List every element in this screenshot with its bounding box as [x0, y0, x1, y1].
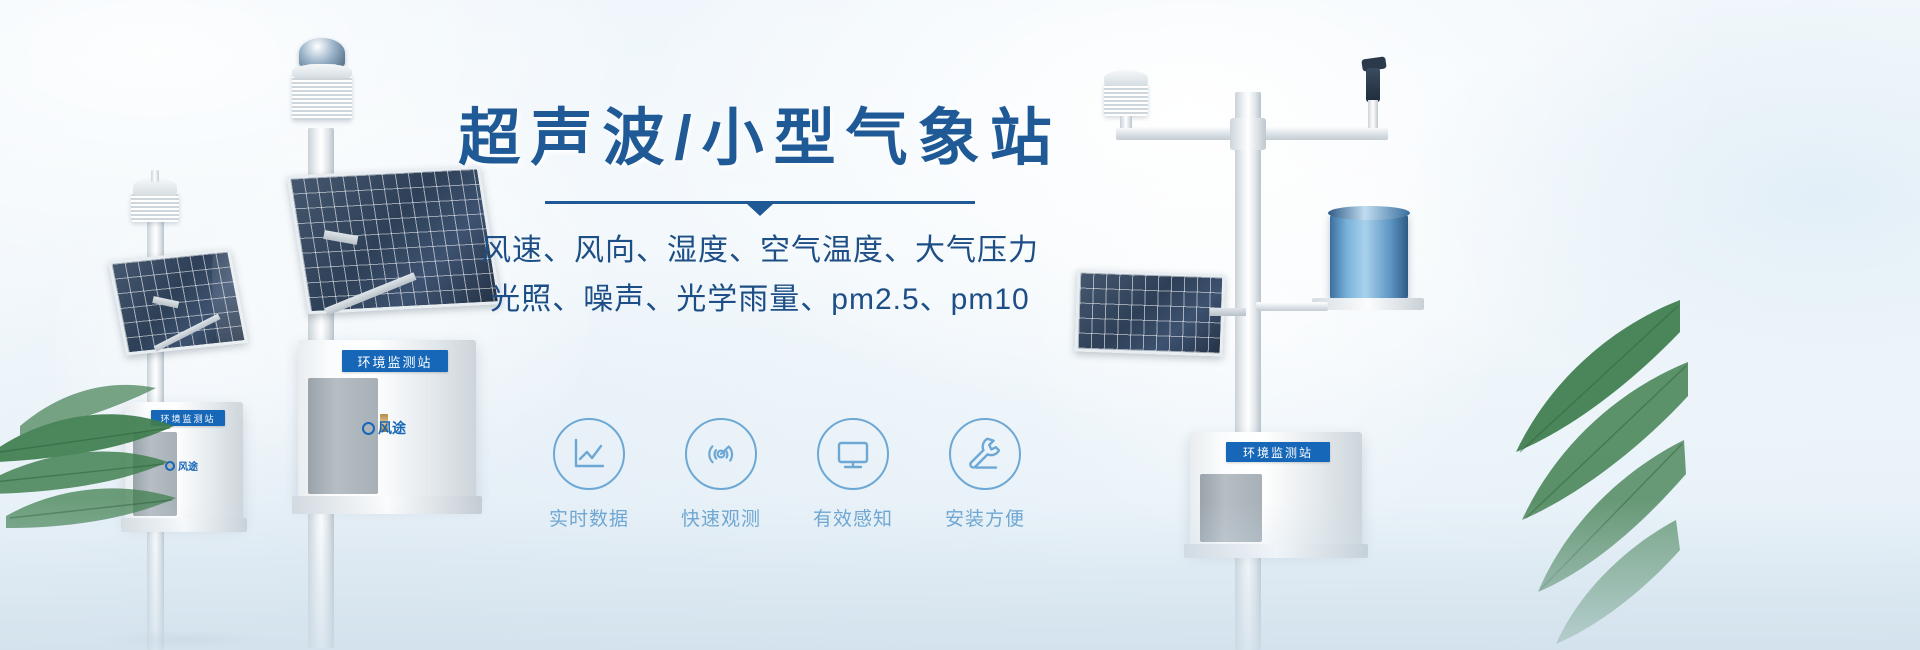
cabinet-brand-center: 风途 [362, 418, 406, 438]
shield-cap-center [292, 64, 352, 78]
weather-station-right: 环境监测站 [1060, 40, 1440, 650]
cabinet-label-center: 环境监测站 [342, 350, 448, 372]
cabinet-label-right: 环境监测站 [1226, 442, 1330, 462]
rain-gauge-right [1330, 212, 1408, 300]
feature-item-fast-observation[interactable]: 快速观测 [669, 418, 773, 531]
monitor-icon [833, 434, 873, 474]
feature-icon-circle [553, 418, 625, 490]
panel-brace-right [1210, 308, 1246, 316]
leaf-left [0, 330, 250, 540]
feature-icon-circle [817, 418, 889, 490]
line-chart-icon [569, 434, 609, 474]
cabinet-base-right [1184, 544, 1368, 558]
title-divider [545, 199, 975, 217]
feature-icon-circle [685, 418, 757, 490]
radar-signal-icon [701, 434, 741, 474]
ground-shadow-left [105, 630, 265, 650]
shelf-arm-right [1256, 302, 1328, 311]
product-banner: 环境监测站 风途 环境监测站 风途 [0, 0, 1920, 650]
feature-item-realtime-data[interactable]: 实时数据 [537, 418, 641, 531]
rain-gauge-rim-right [1328, 206, 1410, 220]
radiation-shield-left [131, 192, 179, 222]
anemometer-mount-right [1368, 100, 1378, 128]
feature-label: 有效感知 [801, 504, 905, 531]
radiation-shield-right [1104, 82, 1148, 116]
feature-list: 实时数据 快速观测 [537, 418, 1037, 531]
shield-cap-right [1104, 70, 1148, 86]
divider-triangle-icon [747, 204, 773, 216]
wrench-icon [965, 434, 1005, 474]
anemometer-body-right [1366, 68, 1380, 102]
feature-icon-circle [949, 418, 1021, 490]
feature-label: 安装方便 [933, 504, 1037, 531]
feature-label: 实时数据 [537, 504, 641, 531]
radiation-shield-center [292, 72, 352, 120]
page-title: 超声波/小型气象站 [440, 104, 1080, 173]
cabinet-base-center [292, 496, 482, 514]
subtitle-line-2: 光照、噪声、光学雨量、pm2.5、pm10 [440, 276, 1080, 325]
leaf-right [1388, 292, 1688, 650]
solar-panel-right [1075, 269, 1226, 356]
brand-mark-icon [362, 422, 375, 435]
feature-label: 快速观测 [669, 504, 773, 531]
brand-text-center: 风途 [378, 418, 406, 438]
feature-item-easy-install[interactable]: 安装方便 [933, 418, 1037, 531]
feature-item-effective-sensing[interactable]: 有效感知 [801, 418, 905, 531]
banner-text-block: 超声波/小型气象站 风速、风向、湿度、空气温度、大气压力 光照、噪声、光学雨量、… [440, 104, 1080, 325]
arm-clamp-right [1230, 118, 1266, 150]
shield-drop-right [1120, 116, 1132, 128]
station-mast-right [1235, 92, 1261, 650]
shield-stem-left [151, 170, 159, 182]
cabinet-door-right [1200, 474, 1262, 542]
subtitle-line-1: 风速、风向、湿度、空气温度、大气压力 [440, 227, 1080, 276]
